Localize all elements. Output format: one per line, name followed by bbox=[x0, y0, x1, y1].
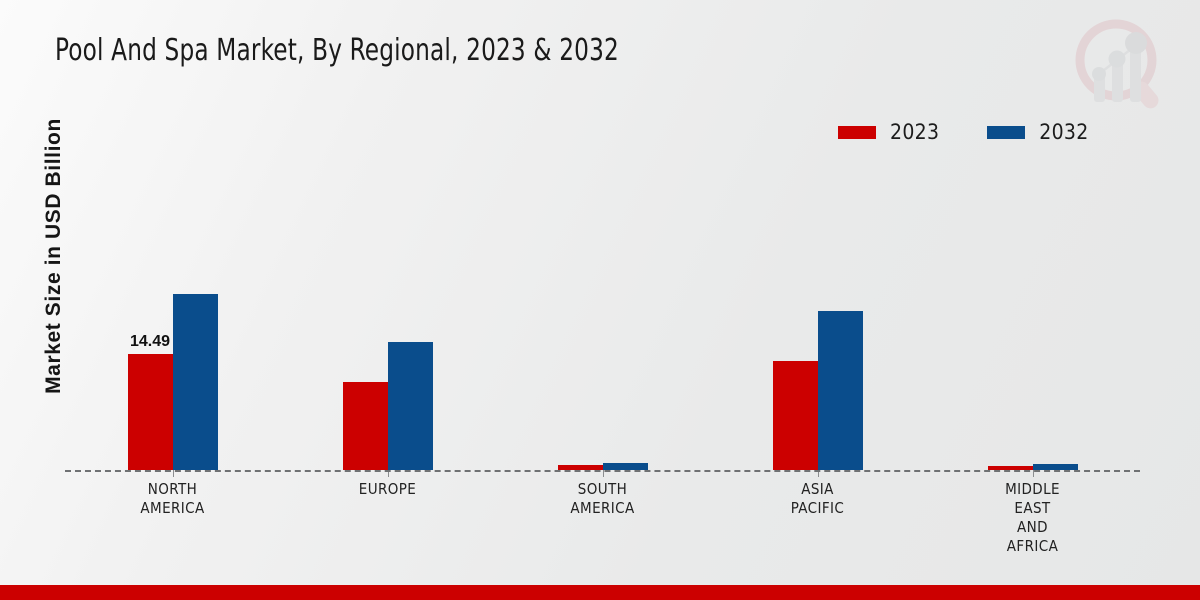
label-line: AND bbox=[925, 518, 1140, 537]
y-axis-title: Market Size in USD Billion bbox=[42, 96, 66, 416]
label-line: AMERICA bbox=[495, 499, 710, 518]
x-axis-label-north-america: NORTH AMERICA bbox=[65, 480, 280, 556]
magnifier-chart-icon bbox=[1062, 12, 1178, 116]
label-line: AMERICA bbox=[65, 499, 280, 518]
chart-legend: 2023 2032 bbox=[838, 120, 1089, 144]
x-axis-label-asia-pacific: ASIA PACIFIC bbox=[710, 480, 925, 556]
bar-2032-asia-pacific[interactable] bbox=[818, 311, 863, 470]
bar-group-asia-pacific bbox=[710, 170, 925, 470]
x-axis-label-middle-east-and-africa: MIDDLE EAST AND AFRICA bbox=[925, 480, 1140, 556]
bar-group-middle-east-and-africa bbox=[925, 170, 1140, 470]
bar-2023-europe[interactable] bbox=[343, 382, 388, 470]
legend-swatch-2032 bbox=[987, 126, 1025, 139]
bar-2023-north-america[interactable]: 14.49 bbox=[128, 354, 173, 470]
chart-page: Pool And Spa Market, By Regional, 2023 &… bbox=[0, 0, 1200, 600]
label-line: NORTH bbox=[65, 480, 280, 499]
bar-2032-north-america[interactable] bbox=[173, 294, 218, 470]
legend-label-2032: 2032 bbox=[1039, 120, 1088, 144]
label-line: MIDDLE bbox=[925, 480, 1140, 499]
x-axis-baseline bbox=[65, 470, 1140, 472]
x-axis-label-europe: EUROPE bbox=[280, 480, 495, 556]
bar-group-north-america: 14.49 bbox=[65, 170, 280, 470]
bar-2032-south-america[interactable] bbox=[603, 463, 648, 470]
bar-group-south-america bbox=[495, 170, 710, 470]
legend-label-2023: 2023 bbox=[890, 120, 939, 144]
label-line: AFRICA bbox=[925, 537, 1140, 556]
legend-swatch-2023 bbox=[838, 126, 876, 139]
bar-group-europe bbox=[280, 170, 495, 470]
page-title: Pool And Spa Market, By Regional, 2023 &… bbox=[55, 33, 619, 68]
brand-watermark-logo bbox=[1062, 12, 1178, 116]
label-line: EUROPE bbox=[280, 480, 495, 499]
plot-area: 14.49 bbox=[65, 170, 1140, 470]
label-line: EAST bbox=[925, 499, 1140, 518]
label-line: PACIFIC bbox=[710, 499, 925, 518]
label-line: ASIA bbox=[710, 480, 925, 499]
bar-value-label-north-america-2023: 14.49 bbox=[130, 333, 170, 351]
bar-groups: 14.49 bbox=[65, 170, 1140, 470]
label-line: SOUTH bbox=[495, 480, 710, 499]
legend-item-2023[interactable]: 2023 bbox=[838, 120, 939, 144]
bar-2023-asia-pacific[interactable] bbox=[773, 361, 818, 470]
x-axis-labels: NORTH AMERICA EUROPE SOUTH AMERICA ASIA … bbox=[65, 480, 1140, 556]
bottom-accent-bar bbox=[0, 585, 1200, 600]
x-axis-label-south-america: SOUTH AMERICA bbox=[495, 480, 710, 556]
bar-2032-europe[interactable] bbox=[388, 342, 433, 470]
legend-item-2032[interactable]: 2032 bbox=[987, 120, 1088, 144]
